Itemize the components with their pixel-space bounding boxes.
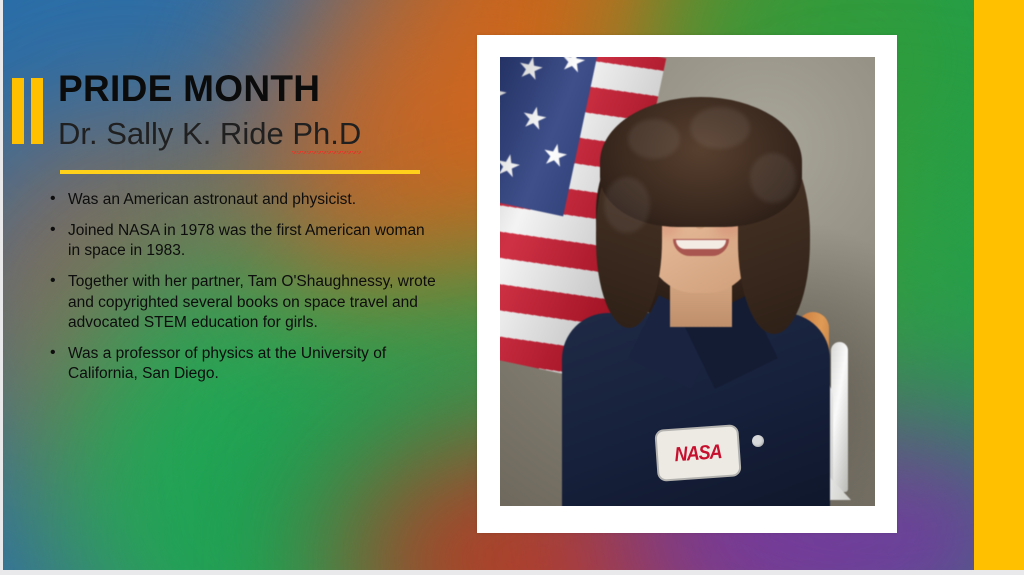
nasa-patch-label: NASA [674,440,723,467]
shuttle-booster-right [831,342,848,492]
list-item: Was an American astronaut and physicist. [46,190,436,210]
hair-curl [750,153,796,203]
suit-button [752,435,764,447]
slide-subtitle: Dr. Sally K. Ride Ph.D [58,117,361,151]
portrait-photo: ★ ★ ★ ★ ★ ★ ★ ★ [500,57,875,506]
bullet-text: Was an American astronaut and physicist. [68,191,356,208]
subtitle-name: Dr. Sally K. Ride [58,116,292,151]
bullet-text: Together with her partner, Tam O'Shaughn… [68,273,436,330]
bullet-list-container: Was an American astronaut and physicist.… [46,190,436,395]
nasa-patch: NASA [656,426,739,479]
gold-side-band [974,0,1024,570]
list-item: Joined NASA in 1978 was the first Americ… [46,221,436,261]
hair-curl [604,177,650,233]
accent-bar-2 [31,78,43,144]
slide-title: PRIDE MONTH [58,70,320,109]
subtitle-degree-misspelled: Ph.D [292,116,361,154]
mouth [673,239,729,256]
title-divider-rule [60,170,420,174]
presentation-slide: PRIDE MONTH Dr. Sally K. Ride Ph.D Was a… [0,0,1024,575]
pause-bars-accent-icon [12,78,43,144]
teeth [676,240,726,249]
hair-curl [628,119,680,159]
hair-curl [690,107,750,149]
list-item: Was a professor of physics at the Univer… [46,344,436,384]
bullet-text: Was a professor of physics at the Univer… [68,345,386,382]
accent-bar-1 [12,78,24,144]
list-item: Together with her partner, Tam O'Shaughn… [46,272,436,332]
bullet-list: Was an American astronaut and physicist.… [46,190,436,384]
bullet-text: Joined NASA in 1978 was the first Americ… [68,222,425,259]
